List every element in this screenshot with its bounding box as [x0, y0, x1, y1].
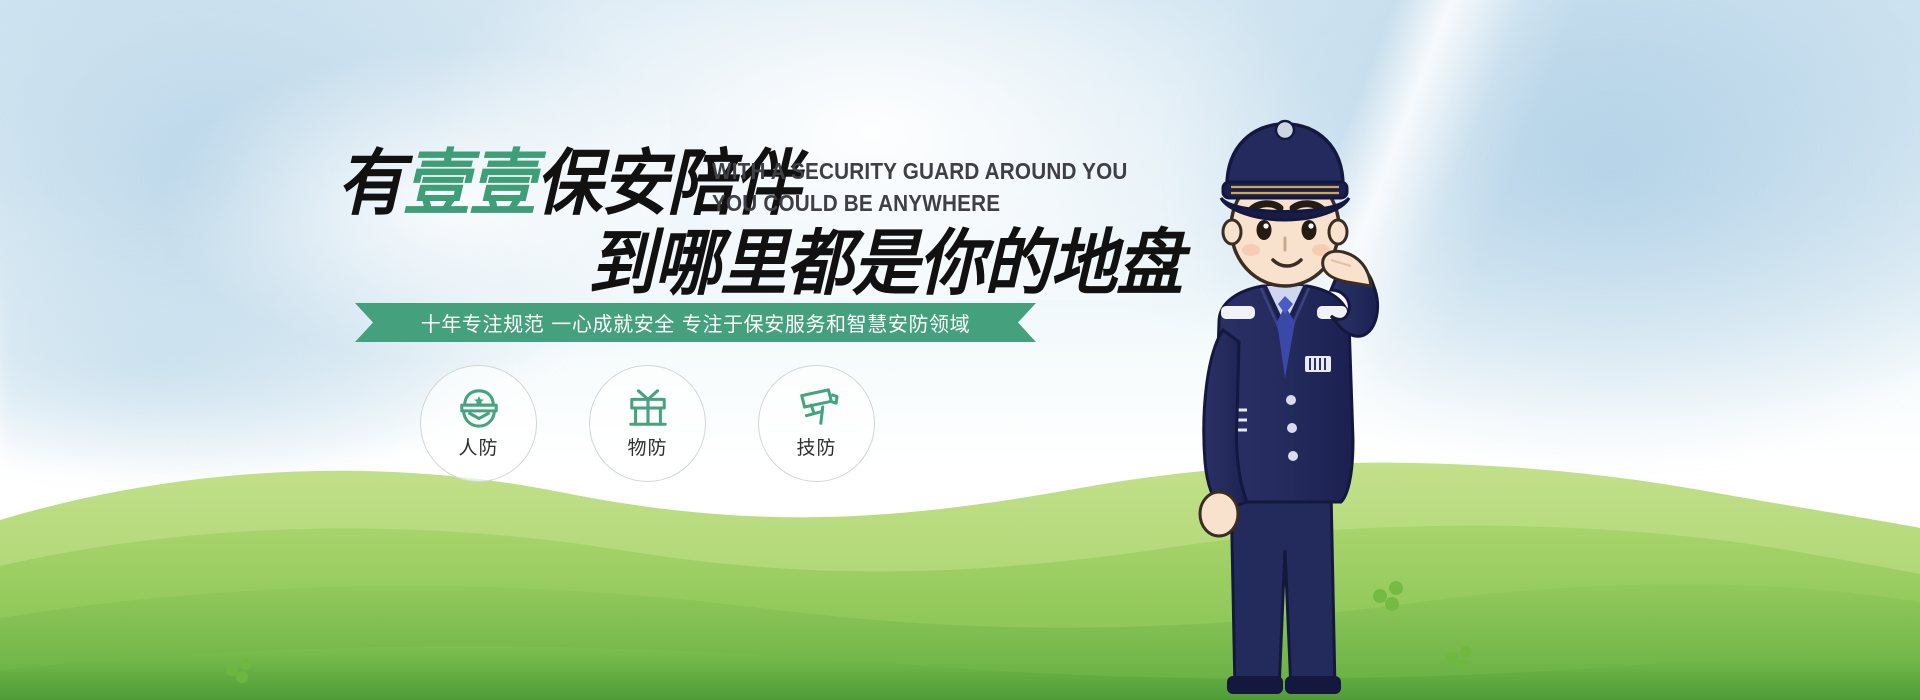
- headline-block: 有壹壹保安陪伴 到哪里都是你的地盘 WITH A SECURITY GUARD …: [0, 0, 1180, 700]
- english-tagline-line-1: WITH A SECURITY GUARD AROUND YOU: [712, 158, 1128, 185]
- security-guard-illustration: [1135, 110, 1435, 700]
- badge-label: 人防: [458, 433, 498, 460]
- feature-badge-list: 人防 物防: [420, 365, 875, 482]
- badge-jifang[interactable]: 技防: [758, 365, 875, 482]
- slogan-ribbon: 十年专注规范 一心成就安全 专注于保安服务和智慧安防领域: [355, 303, 1036, 342]
- headline-line-2: 到哪里都是你的地盘: [588, 228, 1182, 300]
- hero-banner: 有壹壹保安陪伴 到哪里都是你的地盘 WITH A SECURITY GUARD …: [0, 0, 1920, 700]
- cctv-camera-icon: [794, 387, 840, 429]
- badge-renfang[interactable]: 人防: [420, 365, 537, 482]
- badge-wufang[interactable]: 物防: [589, 365, 706, 482]
- english-tagline-line-2: YOU COULD BE ANYWHERE: [712, 190, 1000, 217]
- badge-label: 物防: [627, 433, 667, 460]
- police-cap-icon: [456, 387, 502, 429]
- headline-brand-highlight: 壹壹: [403, 144, 535, 224]
- headline-line1-part1: 有: [337, 144, 403, 224]
- ribbon-text: 十年专注规范 一心成就安全 专注于保安服务和智慧安防领域: [355, 303, 1036, 342]
- gift-box-icon: [625, 387, 671, 429]
- badge-label: 技防: [796, 433, 836, 460]
